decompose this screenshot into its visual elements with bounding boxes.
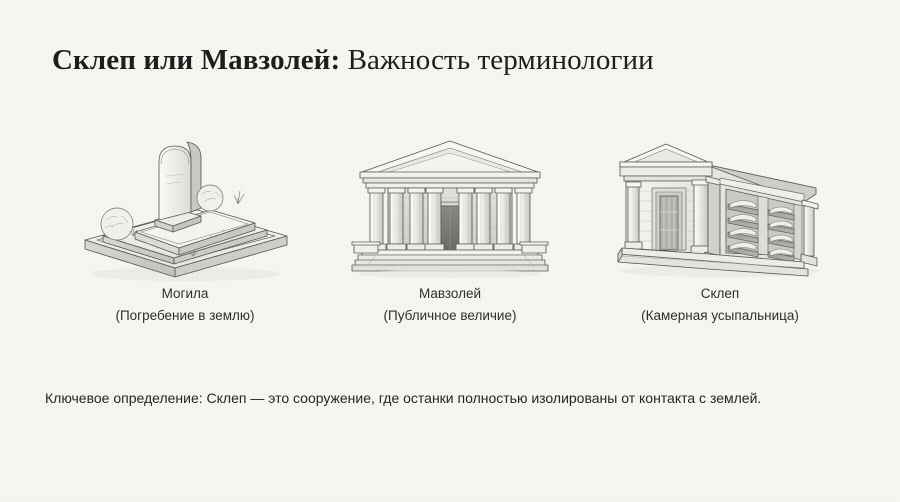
caption-crypt-name: Склеп [600,283,840,305]
illustration-cell-crypt [608,132,833,282]
key-definition-text: Ключевое определение: Склеп — это сооруж… [45,386,860,410]
slide-root: Склеп или Мавзолей: Важность терминологи… [0,0,900,502]
caption-mausoleum: Мавзолей (Публичное величие) [335,283,565,327]
page-title-emphasis: Склеп или Мавзолей: [52,44,340,76]
page-title-remainder: Важность терминологии [340,44,653,76]
grave-isometric-illustration [75,136,295,282]
caption-grave-name: Могила [70,283,300,305]
mausoleum-temple-facade-illustration [350,136,550,282]
caption-grave-subtitle: (Погребение в землю) [70,305,300,327]
caption-mausoleum-subtitle: (Публичное величие) [335,305,565,327]
caption-mausoleum-name: Мавзолей [335,283,565,305]
illustration-cell-mausoleum [345,132,555,282]
illustration-row [0,132,900,282]
illustration-cell-grave [75,132,295,282]
caption-crypt: Склеп (Камерная усыпальница) [600,283,840,327]
crypt-building-with-niches-illustration [608,136,833,282]
caption-crypt-subtitle: (Камерная усыпальница) [600,305,840,327]
caption-row: Могила (Погребение в землю) Мавзолей (Пу… [0,283,900,333]
caption-grave: Могила (Погребение в землю) [70,283,300,327]
page-title: Склеп или Мавзолей: Важность терминологи… [52,40,672,80]
